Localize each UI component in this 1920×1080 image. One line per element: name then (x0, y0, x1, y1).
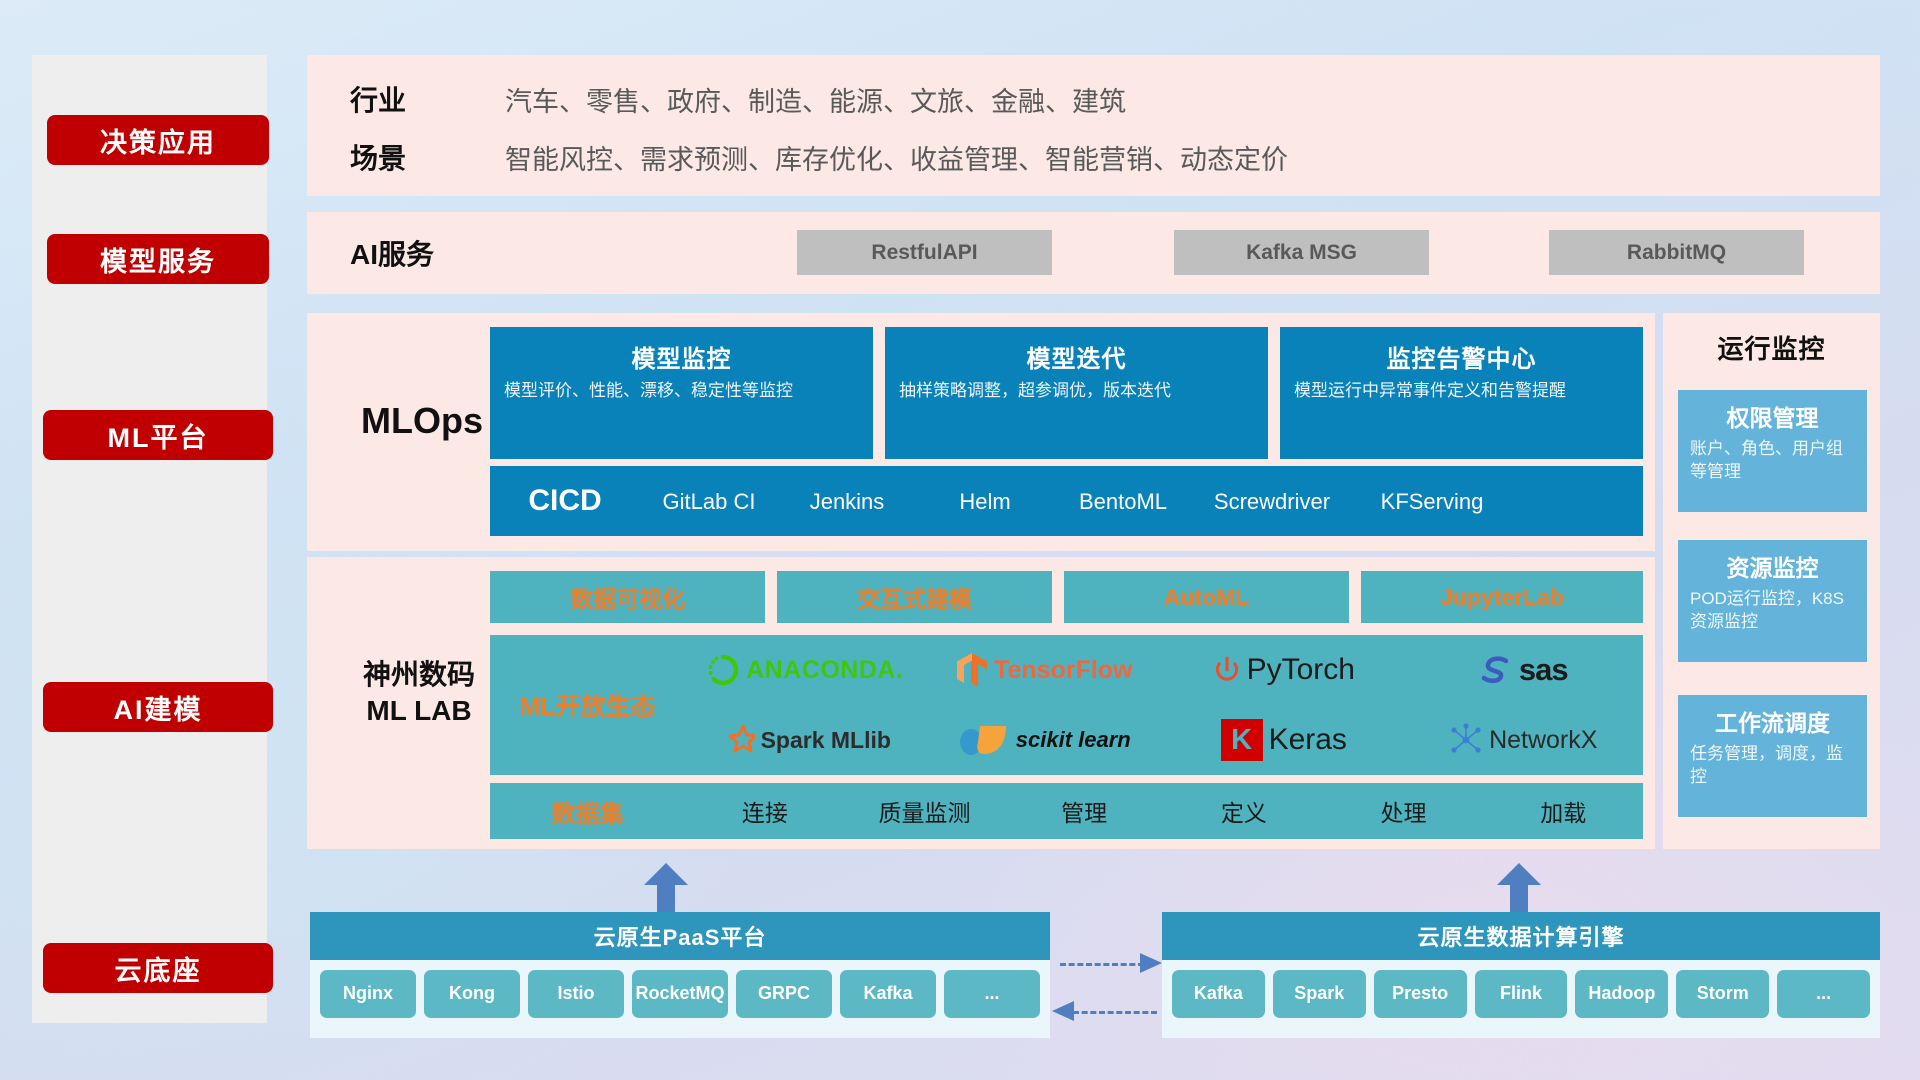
stage-label-decision: 决策应用 (47, 115, 269, 165)
ecosystem-label: ML开放生态 (490, 687, 685, 723)
sas-mark-icon (1479, 653, 1513, 687)
up-arrow-icon-data-engine (1497, 863, 1541, 919)
cloud-data-engine-title: 云原生数据计算引擎 (1162, 912, 1880, 960)
tool-tile-interactive-modeling[interactable]: 交互式建模 (777, 571, 1052, 623)
scenario-label: 场景 (350, 133, 460, 181)
runtime-monitor-title: 运行监控 (1663, 313, 1880, 366)
cloud-paas-chip-row: Nginx Kong Istio RocketMQ GRPC Kafka ... (310, 960, 1050, 1030)
mlops-card-model-monitoring[interactable]: 模型监控 模型评价、性能、漂移、稳定性等监控 (490, 327, 873, 459)
dashed-connector-left (1073, 1011, 1157, 1014)
stage-label-ml-platform: ML平台 (43, 410, 273, 460)
card-title: 工作流调度 (1678, 704, 1867, 738)
networkx-mark-icon (1449, 723, 1483, 757)
ml-lab-label-line1: 神州数码 (329, 657, 509, 693)
cicd-item-screwdriver[interactable]: Screwdriver (1192, 466, 1352, 516)
mlops-card-alert-center[interactable]: 监控告警中心 模型运行中异常事件定义和告警提醒 (1280, 327, 1643, 459)
sas-logo: sas (1479, 652, 1568, 688)
anaconda-mark-icon (706, 653, 740, 687)
ml-ecosystem-panel: ML开放生态 ANACONDA. (490, 635, 1643, 775)
chip-kafka[interactable]: Kafka (840, 970, 936, 1018)
stage-label-text: 决策应用 (100, 121, 216, 160)
anaconda-logo-text: ANACONDA. (746, 656, 903, 685)
chip-storm[interactable]: Storm (1676, 970, 1769, 1018)
stage-label-text: ML平台 (108, 416, 209, 455)
spark-mllib-logo-text: Spark MLlib (761, 727, 891, 754)
tool-tile-jupyterlab[interactable]: JupyterLab (1361, 571, 1643, 623)
tool-tile-automl[interactable]: AutoML (1064, 571, 1349, 623)
chip-hadoop[interactable]: Hadoop (1575, 970, 1668, 1018)
dashed-connector-right (1060, 963, 1144, 966)
stage-label-text: AI建模 (114, 688, 203, 727)
ml-lab-label-line2: ML LAB (329, 693, 509, 729)
cicd-label: CICD (490, 466, 640, 518)
dataset-item-quality-monitoring[interactable]: 质量监测 (845, 794, 1005, 828)
ai-service-tile-rabbitmq[interactable]: RabbitMQ (1549, 230, 1804, 275)
chip-grpc[interactable]: GRPC (736, 970, 832, 1018)
tensorflow-mark-icon (956, 652, 988, 688)
chip-kafka[interactable]: Kafka (1172, 970, 1265, 1018)
stage-label-text: 模型服务 (100, 240, 216, 279)
chip-more[interactable]: ... (1777, 970, 1870, 1018)
scikit-learn-mark-icon (958, 720, 1010, 760)
tile-label: RestfulAPI (871, 241, 977, 265)
mlops-label-text: MLOps (361, 400, 483, 442)
cloud-paas-box: 云原生PaaS平台 Nginx Kong Istio RocketMQ GRPC… (310, 912, 1050, 1038)
ai-service-tile-restfulapi[interactable]: RestfulAPI (797, 230, 1052, 275)
spark-mllib-logo: Spark MLlib (719, 724, 891, 756)
card-desc: 模型运行中异常事件定义和告警提醒 (1280, 374, 1643, 402)
card-title: 模型迭代 (885, 339, 1268, 374)
chip-rocketmq[interactable]: RocketMQ (632, 970, 728, 1018)
chip-kong[interactable]: Kong (424, 970, 520, 1018)
tile-label: AutoML (1164, 584, 1250, 611)
ai-service-band: AI服务 RestfulAPI Kafka MSG RabbitMQ Web服务 (307, 212, 1880, 294)
dataset-label: 数据集 (490, 794, 685, 829)
industry-label-text: 行业 (350, 79, 406, 119)
card-title: 模型监控 (490, 339, 873, 374)
cicd-item-jenkins[interactable]: Jenkins (778, 466, 916, 516)
tile-label: JupyterLab (1440, 584, 1564, 611)
ml-lab-band: 神州数码 ML LAB 数据可视化 交互式建模 AutoML JupyterLa… (307, 557, 1655, 849)
cloud-data-engine-box: 云原生数据计算引擎 Kafka Spark Presto Flink Hadoo… (1162, 912, 1880, 1038)
scenario-value: 智能风控、需求预测、库存优化、收益管理、智能营销、动态定价 (505, 133, 1288, 181)
ml-lab-label: 神州数码 ML LAB (329, 657, 509, 730)
dataset-item-definition[interactable]: 定义 (1164, 794, 1324, 828)
tile-label: RabbitMQ (1627, 241, 1726, 265)
chip-presto[interactable]: Presto (1374, 970, 1467, 1018)
keras-logo: K Keras (1221, 719, 1347, 761)
card-desc: 模型评价、性能、漂移、稳定性等监控 (490, 374, 873, 402)
logo-grid: ANACONDA. TensorFlow PyTorch (685, 635, 1643, 775)
monitor-card-permission[interactable]: 权限管理 账户、角色、用户组等管理 (1678, 390, 1867, 512)
dataset-row: 数据集 连接 质量监测 管理 定义 处理 加载 (490, 783, 1643, 839)
cloud-data-engine-chip-row: Kafka Spark Presto Flink Hadoop Storm ..… (1162, 960, 1880, 1030)
spark-star-icon (719, 724, 755, 756)
architecture-diagram: 决策应用 模型服务 ML平台 AI建模 云底座 行业 汽车、零售、政府、制造、能… (0, 0, 1920, 1080)
pytorch-mark-icon (1213, 653, 1241, 687)
keras-mark-icon: K (1221, 719, 1263, 761)
mlops-band: MLOps 模型监控 模型评价、性能、漂移、稳定性等监控 模型迭代 抽样策略调整… (307, 313, 1655, 551)
anaconda-logo: ANACONDA. (706, 653, 903, 687)
chip-flink[interactable]: Flink (1475, 970, 1568, 1018)
card-desc: 抽样策略调整，超参调优，版本迭代 (885, 374, 1268, 402)
chip-istio[interactable]: Istio (528, 970, 624, 1018)
arrow-right-icon (1140, 953, 1162, 973)
chip-nginx[interactable]: Nginx (320, 970, 416, 1018)
card-desc: 任务管理，调度，监控 (1678, 738, 1867, 789)
dataset-item-connect[interactable]: 连接 (685, 794, 845, 828)
cicd-item-gitlab-ci[interactable]: GitLab CI (640, 466, 778, 516)
dataset-item-loading[interactable]: 加载 (1483, 794, 1643, 828)
tensorflow-logo-text: TensorFlow (994, 656, 1132, 685)
pytorch-logo: PyTorch (1213, 653, 1355, 687)
monitor-card-resource[interactable]: 资源监控 POD运行监控，K8S资源监控 (1678, 540, 1867, 662)
stage-label-text: 云底座 (115, 949, 202, 988)
cicd-item-bentoml[interactable]: BentoML (1054, 466, 1192, 516)
card-desc: POD运行监控，K8S资源监控 (1678, 583, 1867, 634)
tile-label: 数据可视化 (570, 580, 685, 614)
sas-logo-text: sas (1519, 652, 1568, 688)
scenario-label-text: 场景 (350, 137, 406, 177)
arrow-left-icon (1052, 1001, 1074, 1021)
dataset-item-processing[interactable]: 处理 (1324, 794, 1484, 828)
card-title: 资源监控 (1678, 549, 1867, 583)
tile-label: 交互式建模 (857, 580, 972, 614)
stage-label-cloud-base: 云底座 (43, 943, 273, 993)
pytorch-logo-text: PyTorch (1247, 653, 1355, 687)
card-title: 权限管理 (1678, 399, 1867, 433)
card-title: 监控告警中心 (1280, 339, 1643, 374)
ai-service-label: AI服务 (350, 230, 490, 275)
industry-label: 行业 (350, 75, 460, 123)
tile-label: Kafka MSG (1246, 241, 1357, 265)
stage-label-ai-modeling: AI建模 (43, 682, 273, 732)
ai-service-tile-kafka-msg[interactable]: Kafka MSG (1174, 230, 1429, 275)
industry-value: 汽车、零售、政府、制造、能源、文旅、金融、建筑 (505, 75, 1126, 123)
cicd-item-kfserving[interactable]: KFServing (1352, 466, 1512, 516)
cicd-bar: CICD GitLab CI Jenkins Helm BentoML Scre… (490, 466, 1643, 536)
cloud-paas-title: 云原生PaaS平台 (310, 912, 1050, 960)
card-desc: 账户、角色、用户组等管理 (1678, 433, 1867, 484)
mlops-card-model-iteration[interactable]: 模型迭代 抽样策略调整，超参调优，版本迭代 (885, 327, 1268, 459)
decision-application-band: 行业 汽车、零售、政府、制造、能源、文旅、金融、建筑 场景 智能风控、需求预测、… (307, 55, 1880, 196)
dataset-item-management[interactable]: 管理 (1004, 794, 1164, 828)
scikit-learn-logo-text: scikit learn (1016, 727, 1131, 753)
ai-service-label-text: AI服务 (350, 233, 434, 273)
keras-logo-text: Keras (1269, 723, 1347, 757)
cicd-item-helm[interactable]: Helm (916, 466, 1054, 516)
chip-more[interactable]: ... (944, 970, 1040, 1018)
tensorflow-logo: TensorFlow (956, 652, 1132, 688)
stage-label-model-service: 模型服务 (47, 234, 269, 284)
stage-rail (32, 55, 267, 1023)
networkx-logo: NetworkX (1449, 723, 1597, 757)
scikit-learn-logo: scikit learn (958, 720, 1131, 760)
mlops-label: MLOps (337, 391, 507, 451)
networkx-logo-text: NetworkX (1489, 726, 1597, 755)
up-arrow-icon-paas (644, 863, 688, 919)
monitor-card-workflow[interactable]: 工作流调度 任务管理，调度，监控 (1678, 695, 1867, 817)
tool-tile-data-visualization[interactable]: 数据可视化 (490, 571, 765, 623)
chip-spark[interactable]: Spark (1273, 970, 1366, 1018)
